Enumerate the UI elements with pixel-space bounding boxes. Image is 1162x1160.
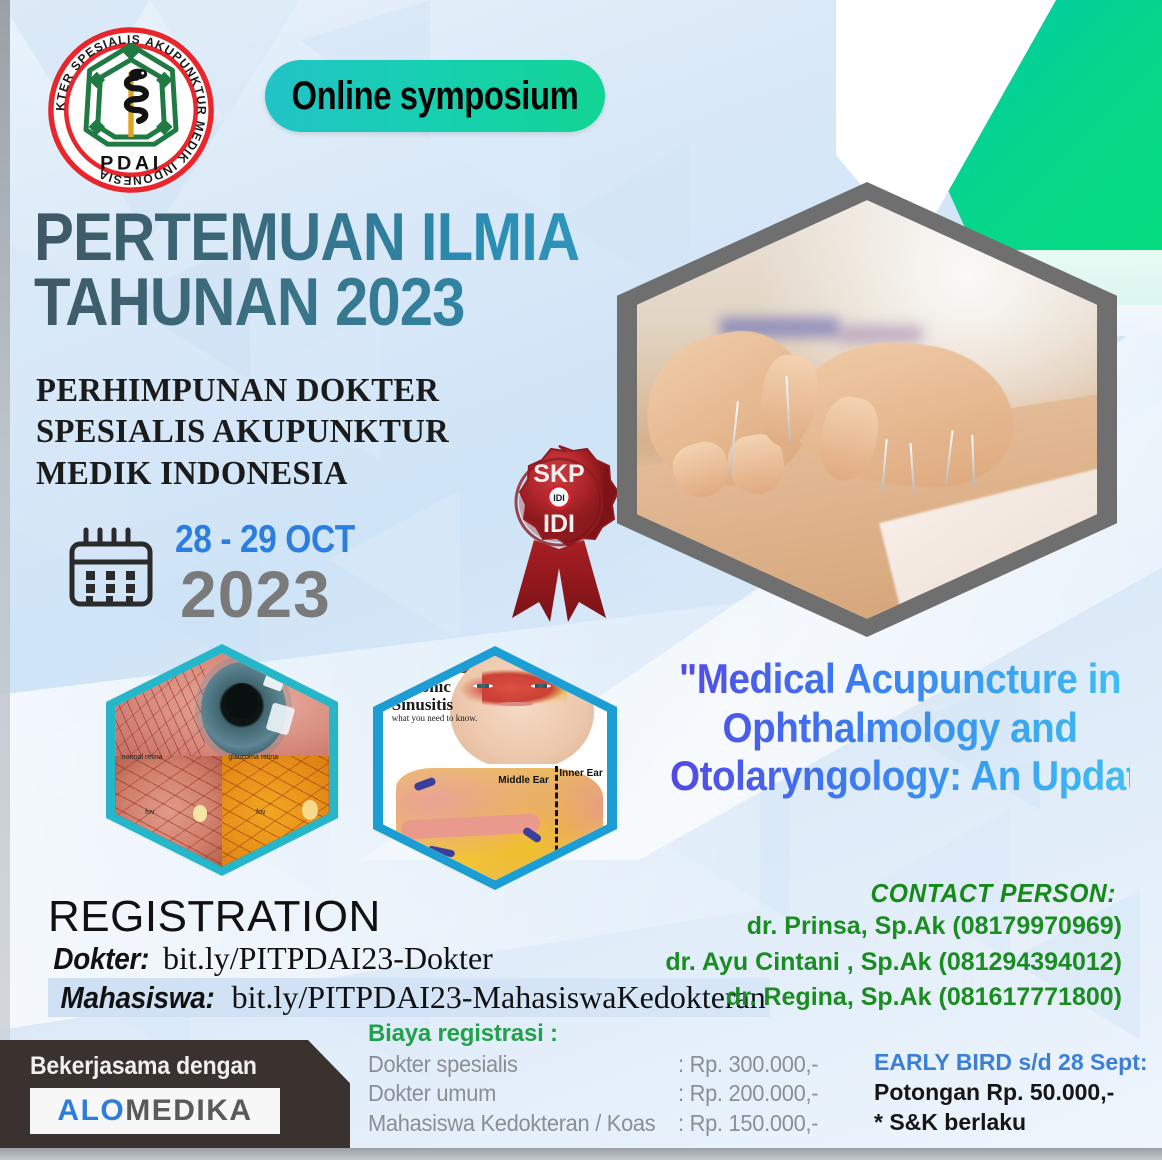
headline-line-2: TAHUNAN 2023: [34, 270, 580, 335]
fee-amount-2: : Rp. 200.000,-: [678, 1079, 818, 1108]
seal-idi-text: IDI: [543, 510, 575, 538]
sinusitis-caption-line1: Chronic: [392, 678, 478, 696]
theme-line-3: Otolaryngology: An Update": [670, 752, 1130, 801]
fee-label-2: Dokter umum: [368, 1079, 663, 1108]
early-bird-block: EARLY BIRD s/d 28 Sept: Potongan Rp. 50.…: [874, 1048, 1134, 1138]
hexagon-ent-photo: Chronic Sinusitis what you need to know.…: [373, 646, 617, 890]
partner-label: Bekerjasama dengan: [30, 1052, 257, 1081]
registration-link-dokter[interactable]: bit.ly/PITPDAI23-Dokter: [163, 940, 493, 976]
alomedika-logo-primary: ALO: [57, 1094, 125, 1128]
hexagon-acupuncture-photo: [617, 182, 1117, 637]
eye-label-fovea-left: fov: [145, 809, 154, 816]
early-bird-heading: EARLY BIRD s/d 28 Sept:: [874, 1048, 1134, 1078]
sinusitis-caption-line2: Sinusitis: [392, 696, 478, 714]
registration-heading: REGISTRATION: [48, 892, 381, 942]
svg-text:PDAI: PDAI: [100, 152, 162, 174]
contact-person-2[interactable]: dr. Ayu Cintani , Sp.Ak (081294394012): [652, 945, 1122, 981]
fee-row: Dokter umum : Rp. 200.000,-: [368, 1079, 838, 1108]
fee-row: Mahasiswa Kedokteran / Koas : Rp. 150.00…: [368, 1109, 838, 1138]
early-bird-terms: * S&K berlaku: [874, 1108, 1134, 1138]
left-edge-strip: [0, 0, 10, 1160]
contact-person-1[interactable]: dr. Prinsa, Sp.Ak (08179970969): [652, 909, 1122, 945]
eye-retina-photo: normal retina fov glaucoma retina fov: [115, 653, 328, 866]
fee-label-1: Dokter spesialis: [368, 1050, 663, 1079]
skp-idi-seal-icon: SKP IDI IDI: [492, 440, 627, 630]
sinusitis-caption-sub: what you need to know.: [392, 714, 478, 723]
ear-label-inner: Inner Ear: [559, 768, 602, 779]
registration-row-dokter[interactable]: Dokter: bit.ly/PITPDAI23-Dokter: [48, 940, 493, 977]
headline-line-1: PERTEMUAN ILMIAH: [34, 205, 580, 270]
early-bird-discount: Potongan Rp. 50.000,-: [874, 1078, 1134, 1108]
sinusitis-caption: Chronic Sinusitis what you need to know.: [392, 678, 478, 723]
eye-label-glaucoma: glaucoma retina: [228, 754, 278, 761]
poster-canvas: PERHIMPUNAN DOKTER SPESIALIS AKUPUNKTUR …: [0, 0, 1162, 1160]
registration-key-dokter: Dokter:: [53, 941, 149, 977]
bottom-edge-strip: [0, 1148, 1162, 1160]
ear-label-middle: Middle Ear: [498, 775, 549, 786]
subheadline-line-1: PERHIMPUNAN DOKTER: [36, 370, 574, 411]
pdai-logo: PERHIMPUNAN DOKTER SPESIALIS AKUPUNKTUR …: [36, 20, 226, 200]
fee-row: Dokter spesialis : Rp. 300.000,-: [368, 1050, 838, 1079]
event-year: 2023: [180, 556, 331, 632]
theme-line-2: Ophthalmology and: [670, 704, 1130, 753]
fee-amount-3: : Rp. 150.000,-: [678, 1109, 818, 1138]
contact-person-heading: CONTACT PERSON:: [870, 878, 1115, 909]
svg-text:IDI: IDI: [553, 493, 565, 503]
online-symposium-badge: Online symposium: [265, 60, 605, 132]
fees-heading: Biaya registrasi :: [368, 1020, 838, 1048]
page-title: PERTEMUAN ILMIAH TAHUNAN 2023: [34, 205, 654, 336]
seal-skp-text: SKP: [533, 460, 584, 488]
calendar-icon: [68, 522, 154, 610]
symposium-theme: "Medical Acupuncture in Ophthalmology an…: [650, 655, 1150, 801]
theme-line-1: "Medical Acupuncture in: [670, 655, 1130, 704]
skp-idi-seal: SKP IDI IDI: [492, 440, 627, 630]
partner-banner: Bekerjasama dengan ALOMEDIKA: [0, 1040, 350, 1148]
alomedika-logo: ALOMEDIKA: [30, 1088, 280, 1134]
sinusitis-ear-photo: Chronic Sinusitis what you need to know.…: [383, 656, 607, 880]
fee-amount-1: : Rp. 300.000,-: [678, 1050, 818, 1079]
contact-person-3[interactable]: dr. Regina, Sp.Ak (081617771800): [652, 980, 1122, 1016]
contact-person-block: CONTACT PERSON: dr. Prinsa, Sp.Ak (08179…: [652, 878, 1122, 1016]
registration-fees: Biaya registrasi : Dokter spesialis : Rp…: [368, 1020, 838, 1138]
registration-key-mahasiswa: Mahasiswa:: [61, 980, 215, 1016]
fee-label-3: Mahasiswa Kedokteran / Koas: [368, 1109, 663, 1138]
acupuncture-photo: [637, 200, 1097, 619]
hexagon-eye-photo: normal retina fov glaucoma retina fov: [106, 644, 338, 876]
alomedika-logo-secondary: MEDIKA: [125, 1094, 252, 1128]
online-symposium-label: Online symposium: [292, 74, 579, 119]
eye-label-normal: normal retina: [122, 754, 163, 761]
eye-label-fovea-right: fov: [256, 809, 265, 816]
calendar-icon-glyph: [68, 522, 154, 610]
pdai-logo-icon: PERHIMPUNAN DOKTER SPESIALIS AKUPUNKTUR …: [36, 20, 226, 200]
